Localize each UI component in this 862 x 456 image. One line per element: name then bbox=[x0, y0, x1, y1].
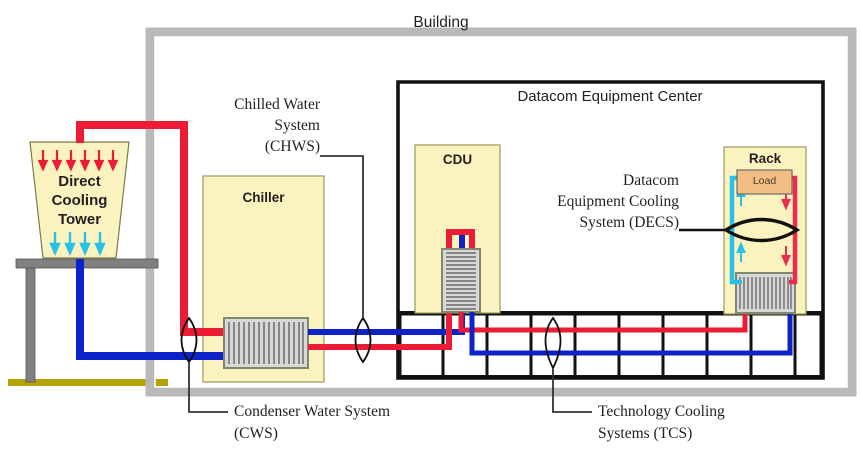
chws-line3: (CHWS) bbox=[160, 136, 320, 157]
chws-line2: System bbox=[160, 115, 320, 136]
rack-label: Rack bbox=[724, 151, 806, 166]
decs-line2: Equipment Cooling bbox=[499, 191, 679, 212]
cooling-tower-line3: Tower bbox=[30, 210, 129, 229]
cws-callout: Condenser Water System (CWS) bbox=[234, 401, 534, 445]
cws-line2: (CWS) bbox=[234, 423, 534, 445]
diagram-canvas: Building Datacom Equipment Center Direct… bbox=[0, 0, 862, 456]
rack-heat-exchanger bbox=[736, 273, 795, 313]
chiller-label: Chiller bbox=[203, 190, 324, 205]
decs-line1: Datacom bbox=[499, 170, 679, 191]
page-title: Building bbox=[361, 14, 521, 32]
raised-floor-base-slab bbox=[398, 375, 823, 378]
chws-callout: Chilled Water System (CHWS) bbox=[160, 94, 320, 157]
tcs-callout: Technology Cooling Systems (TCS) bbox=[598, 401, 858, 445]
decs-line3: System (DECS) bbox=[499, 212, 679, 233]
cooling-tower-platform bbox=[16, 259, 158, 268]
cooling-tower-line1: Direct bbox=[30, 172, 129, 191]
chws-lens-marker bbox=[356, 318, 371, 362]
cws-line1: Condenser Water System bbox=[234, 401, 534, 423]
chws-line1: Chilled Water bbox=[160, 94, 320, 115]
tcs-line2: Systems (TCS) bbox=[598, 423, 858, 445]
datacom-center-title: Datacom Equipment Center bbox=[460, 88, 760, 105]
rack-load-label: Load bbox=[737, 175, 792, 187]
cdu-label: CDU bbox=[415, 152, 500, 167]
chiller-heat-exchanger bbox=[224, 318, 308, 368]
tcs-line1: Technology Cooling bbox=[598, 401, 858, 423]
decs-callout: Datacom Equipment Cooling System (DECS) bbox=[499, 170, 679, 233]
cdu-heat-exchanger bbox=[442, 249, 480, 312]
tcs-lens-marker bbox=[546, 318, 561, 368]
cooling-tower-line2: Cooling bbox=[30, 191, 129, 210]
cooling-tower-platform-leg bbox=[26, 268, 35, 382]
chws-leader-line bbox=[320, 156, 363, 318]
diagram-graphics bbox=[0, 0, 862, 456]
cooling-tower-label: Direct Cooling Tower bbox=[30, 172, 129, 229]
